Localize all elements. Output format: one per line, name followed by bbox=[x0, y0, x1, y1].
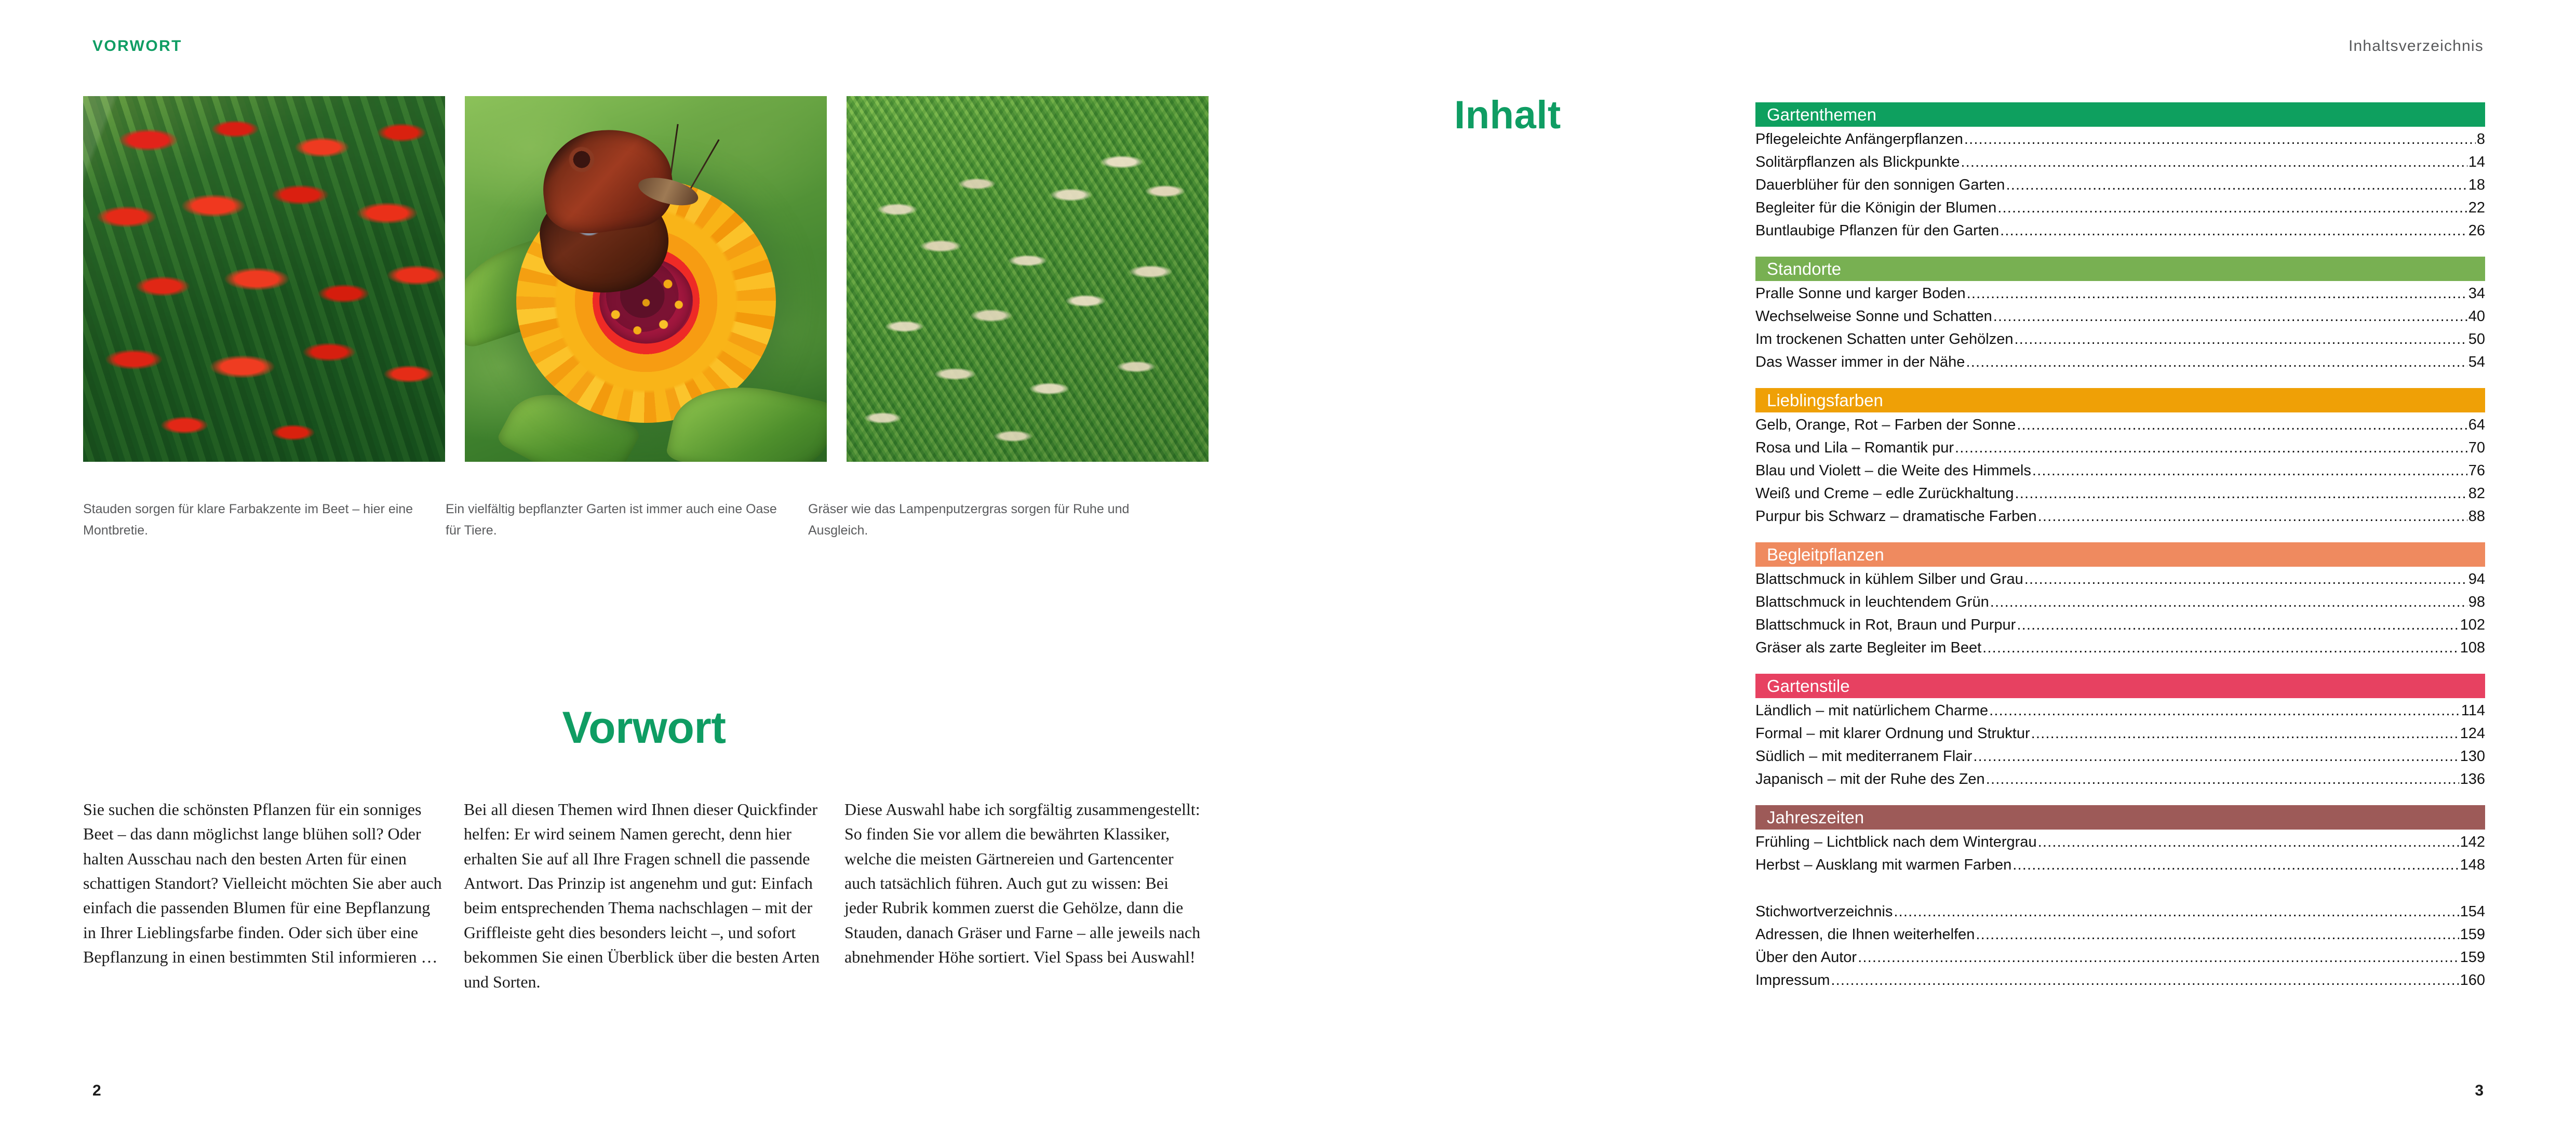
toc-leader-dots: ........................................… bbox=[1964, 131, 2476, 148]
toc-leader-dots: ........................................… bbox=[2000, 222, 2467, 239]
toc-leader-dots: ........................................… bbox=[1961, 154, 2467, 171]
book-spread: VORWORT bbox=[0, 0, 2576, 1135]
toc-leader-dots: ........................................… bbox=[1997, 199, 2467, 217]
photo-row bbox=[83, 96, 1209, 462]
toc-entry-page: 130 bbox=[2460, 748, 2485, 765]
toc-entry-page: 160 bbox=[2460, 972, 2485, 989]
foreword-body: Sie suchen die schönsten Pflanzen für ei… bbox=[83, 797, 1205, 994]
toc-entry[interactable]: Pralle Sonne und karger Boden...........… bbox=[1755, 285, 2485, 306]
toc-entry-page: 82 bbox=[2468, 485, 2485, 502]
toc-leader-dots: ........................................… bbox=[1990, 594, 2467, 611]
toc-entry[interactable]: Blattschmuck in Rot, Braun und Purpur...… bbox=[1755, 617, 2485, 637]
toc-entry[interactable]: Südlich – mit mediterranem Flair........… bbox=[1755, 748, 2485, 769]
toc-entry-page: 14 bbox=[2468, 154, 2485, 171]
toc-entry-page: 114 bbox=[2461, 702, 2485, 719]
toc-entry-label: Wechselweise Sonne und Schatten bbox=[1755, 308, 1992, 325]
toc-entry-page: 50 bbox=[2468, 331, 2485, 348]
toc-entry[interactable]: Japanisch – mit der Ruhe des Zen........… bbox=[1755, 771, 2485, 792]
toc-leader-dots: ........................................… bbox=[2038, 834, 2459, 851]
table-of-contents: GartenthemenPflegeleichte Anfängerpflanz… bbox=[1755, 102, 2485, 993]
toc-section-heading: Standorte bbox=[1755, 257, 2485, 281]
toc-entry-label: Herbst – Ausklang mit warmen Farben bbox=[1755, 857, 2011, 874]
toc-section-entries: Gelb, Orange, Rot – Farben der Sonne....… bbox=[1755, 417, 2485, 529]
toc-entry[interactable]: Wechselweise Sonne und Schatten.........… bbox=[1755, 308, 2485, 329]
toc-entry[interactable]: Rosa und Lila – Romantik pur............… bbox=[1755, 439, 2485, 460]
toc-entry-label: Im trockenen Schatten unter Gehölzen bbox=[1755, 331, 2014, 348]
photo-caption: Gräser wie das Lampenputzergras sorgen f… bbox=[808, 499, 1151, 541]
toc-entry-page: 108 bbox=[2460, 639, 2485, 657]
toc-entry-label: Rosa und Lila – Romantik pur bbox=[1755, 439, 1954, 457]
foreword-column: Diese Auswahl habe ich sorgfältig zusamm… bbox=[844, 797, 1204, 994]
photo-red-crocosmia bbox=[83, 96, 445, 462]
toc-leader-dots: ........................................… bbox=[2013, 857, 2459, 874]
toc-entry-page: 159 bbox=[2460, 949, 2485, 966]
toc-entry-label: Adressen, die Ihnen weiterhelfen bbox=[1755, 926, 1975, 943]
toc-entry-label: Ländlich – mit natürlichem Charme bbox=[1755, 702, 1988, 719]
photo-butterfly-on-zinnia bbox=[465, 96, 827, 462]
toc-entry[interactable]: Formal – mit klarer Ordnung und Struktur… bbox=[1755, 725, 2485, 746]
toc-leader-dots: ........................................… bbox=[1955, 439, 2467, 457]
toc-leader-dots: ........................................… bbox=[2038, 508, 2467, 525]
toc-entry[interactable]: Adressen, die Ihnen weiterhelfen........… bbox=[1755, 926, 2485, 947]
toc-entry[interactable]: Gelb, Orange, Rot – Farben der Sonne....… bbox=[1755, 417, 2485, 437]
toc-entry-page: 40 bbox=[2468, 308, 2485, 325]
toc-section-heading: Lieblingsfarben bbox=[1755, 388, 2485, 412]
toc-entry-label: Über den Autor bbox=[1755, 949, 1857, 966]
photo-fountain-grass bbox=[847, 96, 1209, 462]
toc-entry-label: Solitärpflanzen als Blickpunkte bbox=[1755, 154, 1960, 171]
toc-leader-dots: ........................................… bbox=[2006, 177, 2467, 194]
toc-section-heading: Gartenstile bbox=[1755, 674, 2485, 698]
toc-section-entries: Blattschmuck in kühlem Silber und Grau..… bbox=[1755, 571, 2485, 660]
toc-entry[interactable]: Weiß und Creme – edle Zurückhaltung.....… bbox=[1755, 485, 2485, 506]
toc-entry[interactable]: Herbst – Ausklang mit warmen Farben.....… bbox=[1755, 857, 2485, 877]
toc-entry-page: 26 bbox=[2468, 222, 2485, 239]
page-number-left: 2 bbox=[92, 1082, 101, 1100]
toc-entry-page: 148 bbox=[2460, 857, 2485, 874]
toc-section-entries: Pflegeleichte Anfängerpflanzen..........… bbox=[1755, 131, 2485, 243]
toc-leader-dots: ........................................… bbox=[2017, 617, 2459, 634]
toc-section-heading: Begleitpflanzen bbox=[1755, 542, 2485, 567]
toc-entry-page: 94 bbox=[2468, 571, 2485, 588]
toc-leader-dots: ........................................… bbox=[2015, 331, 2467, 348]
toc-leader-dots: ........................................… bbox=[1982, 639, 2459, 657]
toc-entry-label: Pralle Sonne und karger Boden bbox=[1755, 285, 1966, 302]
toc-entry-label: Gelb, Orange, Rot – Farben der Sonne bbox=[1755, 417, 2016, 434]
toc-entry[interactable]: Stichwortverzeichnis....................… bbox=[1755, 903, 2485, 924]
toc-leader-dots: ........................................… bbox=[1894, 903, 2459, 920]
toc-entry-label: Blattschmuck in Rot, Braun und Purpur bbox=[1755, 617, 2016, 634]
photo-caption: Stauden sorgen für klare Farbakzente im … bbox=[83, 499, 426, 541]
toc-entry-page: 8 bbox=[2477, 131, 2485, 148]
peacock-butterfly bbox=[526, 115, 715, 308]
page-title-inhalt: Inhalt bbox=[1454, 92, 1561, 138]
toc-entry-page: 124 bbox=[2460, 725, 2485, 742]
toc-entry[interactable]: Dauerblüher für den sonnigen Garten.....… bbox=[1755, 177, 2485, 197]
toc-entry-label: Gräser als zarte Begleiter im Beet bbox=[1755, 639, 1981, 657]
toc-entry-page: 76 bbox=[2468, 462, 2485, 479]
toc-leader-dots: ........................................… bbox=[1966, 354, 2467, 371]
toc-entry-label: Impressum bbox=[1755, 972, 1830, 989]
toc-entry-label: Weiß und Creme – edle Zurückhaltung bbox=[1755, 485, 2014, 502]
toc-entry-label: Südlich – mit mediterranem Flair bbox=[1755, 748, 1972, 765]
toc-section-entries: Frühling – Lichtblick nach dem Wintergra… bbox=[1755, 834, 2485, 877]
caption-row: Stauden sorgen für klare Farbakzente im … bbox=[83, 499, 1151, 541]
running-head-vorwort: VORWORT bbox=[92, 37, 182, 55]
toc-entry[interactable]: Das Wasser immer in der Nähe............… bbox=[1755, 354, 2485, 375]
toc-entry-label: Formal – mit klarer Ordnung und Struktur bbox=[1755, 725, 2030, 742]
toc-entry[interactable]: Im trockenen Schatten unter Gehölzen....… bbox=[1755, 331, 2485, 352]
toc-entry-label: Blattschmuck in kühlem Silber und Grau bbox=[1755, 571, 2023, 588]
foreword-column: Sie suchen die schönsten Pflanzen für ei… bbox=[83, 797, 443, 994]
toc-back-matter: Stichwortverzeichnis....................… bbox=[1755, 903, 2485, 993]
toc-entry-label: Buntlaubige Pflanzen für den Garten bbox=[1755, 222, 1999, 239]
toc-leader-dots: ........................................… bbox=[1967, 285, 2467, 302]
toc-entry-label: Begleiter für die Königin der Blumen bbox=[1755, 199, 1996, 217]
toc-entry-label: Blattschmuck in leuchtendem Grün bbox=[1755, 594, 1989, 611]
toc-entry[interactable]: Begleiter für die Königin der Blumen....… bbox=[1755, 199, 2485, 220]
toc-entry-page: 154 bbox=[2460, 903, 2485, 920]
toc-entry[interactable]: Über den Autor..........................… bbox=[1755, 949, 2485, 970]
toc-entry-page: 136 bbox=[2460, 771, 2485, 788]
left-page: VORWORT bbox=[0, 0, 1288, 1135]
running-head-inhaltsverzeichnis: Inhaltsverzeichnis bbox=[2349, 37, 2484, 55]
toc-section-entries: Ländlich – mit natürlichem Charme.......… bbox=[1755, 702, 2485, 792]
toc-entry-label: Pflegeleichte Anfängerpflanzen bbox=[1755, 131, 1963, 148]
toc-leader-dots: ........................................… bbox=[2032, 462, 2467, 479]
toc-entry[interactable]: Impressum...............................… bbox=[1755, 972, 2485, 993]
toc-entry-page: 98 bbox=[2468, 594, 2485, 611]
toc-leader-dots: ........................................… bbox=[2017, 417, 2467, 434]
toc-entry-page: 64 bbox=[2468, 417, 2485, 434]
toc-entry-page: 159 bbox=[2460, 926, 2485, 943]
toc-section-entries: Pralle Sonne und karger Boden...........… bbox=[1755, 285, 2485, 375]
toc-entry-page: 70 bbox=[2468, 439, 2485, 457]
toc-leader-dots: ........................................… bbox=[1993, 308, 2467, 325]
toc-entry-page: 88 bbox=[2468, 508, 2485, 525]
toc-entry-page: 102 bbox=[2460, 617, 2485, 634]
toc-entry[interactable]: Blau und Violett – die Weite des Himmels… bbox=[1755, 462, 2485, 483]
toc-leader-dots: ........................................… bbox=[1989, 702, 2460, 719]
toc-entry-page: 34 bbox=[2468, 285, 2485, 302]
toc-leader-dots: ........................................… bbox=[1986, 771, 2459, 788]
toc-entry-label: Das Wasser immer in der Nähe bbox=[1755, 354, 1965, 371]
toc-entry-label: Blau und Violett – die Weite des Himmels bbox=[1755, 462, 2031, 479]
toc-entry-label: Frühling – Lichtblick nach dem Wintergra… bbox=[1755, 834, 2037, 851]
toc-entry-page: 142 bbox=[2460, 834, 2485, 851]
toc-entry[interactable]: Frühling – Lichtblick nach dem Wintergra… bbox=[1755, 834, 2485, 854]
toc-entry-label: Stichwortverzeichnis bbox=[1755, 903, 1893, 920]
toc-entry[interactable]: Pflegeleichte Anfängerpflanzen..........… bbox=[1755, 131, 2485, 152]
toc-leader-dots: ........................................… bbox=[2024, 571, 2467, 588]
toc-entry-page: 54 bbox=[2468, 354, 2485, 371]
toc-section-heading: Jahreszeiten bbox=[1755, 805, 2485, 830]
toc-entry[interactable]: Buntlaubige Pflanzen für den Garten.....… bbox=[1755, 222, 2485, 243]
toc-entry-page: 18 bbox=[2468, 177, 2485, 194]
photo-caption: Ein vielfältig bepflanzter Garten ist im… bbox=[446, 499, 788, 541]
toc-entry-label: Purpur bis Schwarz – dramatische Farben bbox=[1755, 508, 2037, 525]
toc-entry[interactable]: Purpur bis Schwarz – dramatische Farben.… bbox=[1755, 508, 2485, 529]
toc-entry[interactable]: Solitärpflanzen als Blickpunkte.........… bbox=[1755, 154, 2485, 175]
toc-leader-dots: ........................................… bbox=[1976, 926, 2459, 943]
page-title-vorwort: Vorwort bbox=[0, 702, 1288, 754]
foreword-column: Bei all diesen Themen wird Ihnen dieser … bbox=[464, 797, 824, 994]
toc-entry[interactable]: Ländlich – mit natürlichem Charme.......… bbox=[1755, 702, 2485, 723]
toc-section-heading: Gartenthemen bbox=[1755, 102, 2485, 127]
toc-entry[interactable]: Blattschmuck in kühlem Silber und Grau..… bbox=[1755, 571, 2485, 592]
toc-leader-dots: ........................................… bbox=[1858, 949, 2459, 966]
page-number-right: 3 bbox=[2475, 1082, 2484, 1100]
toc-entry-page: 22 bbox=[2468, 199, 2485, 217]
right-page: Inhaltsverzeichnis Inhalt GartenthemenPf… bbox=[1288, 0, 2576, 1135]
toc-entry-label: Japanisch – mit der Ruhe des Zen bbox=[1755, 771, 1985, 788]
toc-leader-dots: ........................................… bbox=[2031, 725, 2459, 742]
toc-entry[interactable]: Gräser als zarte Begleiter im Beet......… bbox=[1755, 639, 2485, 660]
toc-leader-dots: ........................................… bbox=[1831, 972, 2459, 989]
toc-entry[interactable]: Blattschmuck in leuchtendem Grün........… bbox=[1755, 594, 2485, 615]
toc-leader-dots: ........................................… bbox=[1973, 748, 2459, 765]
toc-entry-label: Dauerblüher für den sonnigen Garten bbox=[1755, 177, 2005, 194]
toc-leader-dots: ........................................… bbox=[2015, 485, 2467, 502]
